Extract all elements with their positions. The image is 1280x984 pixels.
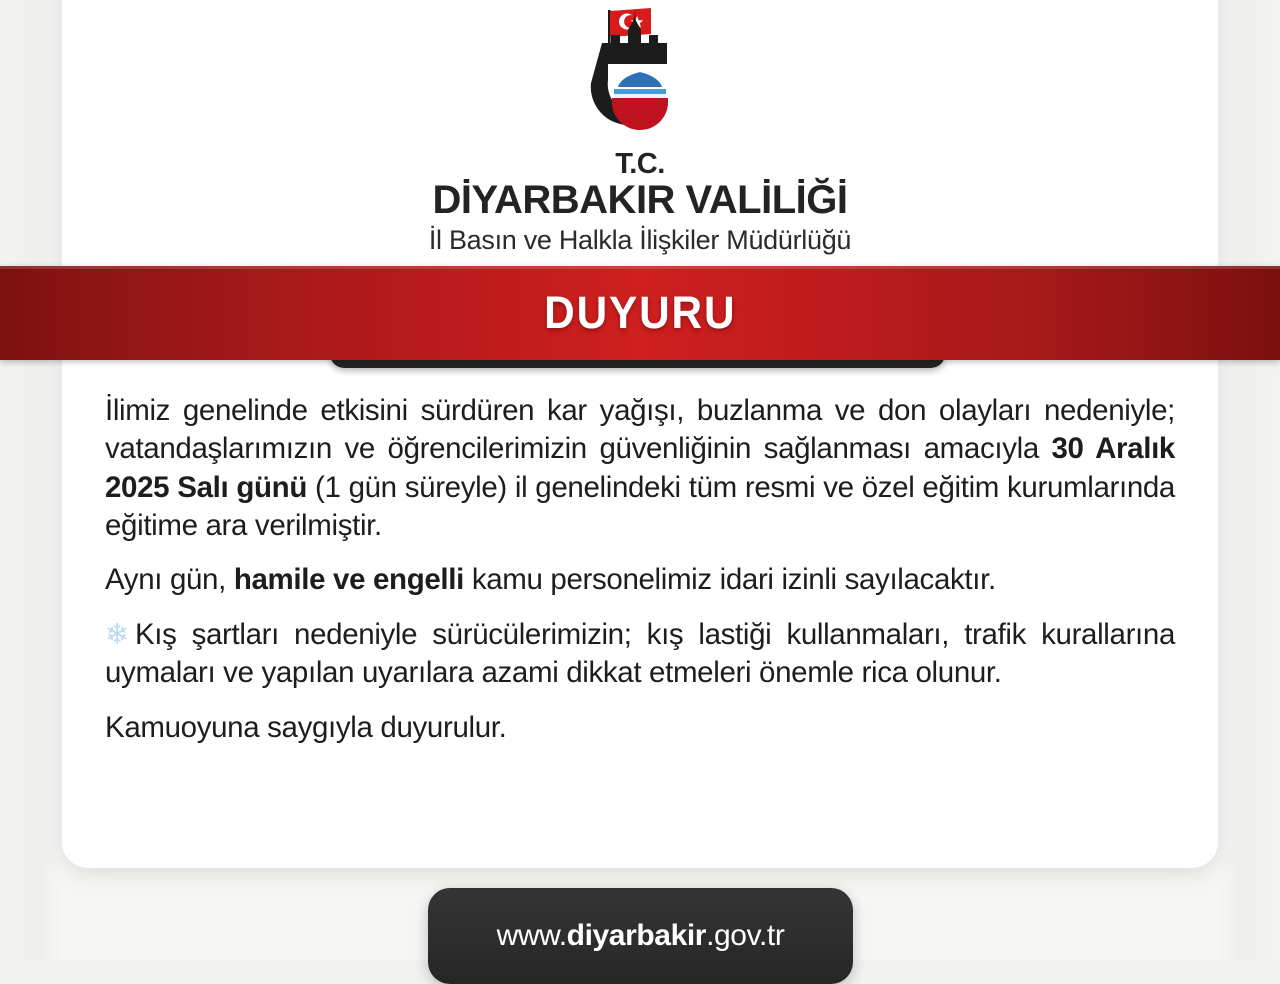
url-suffix: .gov.tr	[706, 919, 784, 952]
announcement-body: İlimiz genelinde etkisini sürdüren kar y…	[105, 392, 1175, 763]
p2-text-b: kamu personelimiz idari izinli sayılacak…	[464, 563, 996, 596]
website-url[interactable]: www.diyarbakir.gov.tr	[497, 919, 785, 953]
duyuru-banner: DUYURU	[0, 266, 1280, 360]
organization-title: DİYARBAKIR VALİLİĞİ	[433, 180, 848, 222]
paragraph-closing: Kamuoyuna saygıyla duyurulur.	[105, 709, 1175, 747]
poster-header: T.C. DİYARBAKIR VALİLİĞİ İl Basın ve Hal…	[62, 0, 1218, 266]
p1-text-a: İlimiz genelinde etkisini sürdüren kar y…	[105, 394, 1175, 465]
paragraph-school-closure: İlimiz genelinde etkisini sürdüren kar y…	[105, 392, 1175, 545]
p3-text: Kış şartları nedeniyle sürücülerimizin; …	[105, 618, 1175, 690]
url-domain: diyarbakir	[567, 919, 706, 952]
snowflake-icon: ❄	[105, 619, 129, 651]
p2-group-emphasis: hamile ve engelli	[234, 563, 464, 596]
department-subtitle: İl Basın ve Halkla İlişkiler Müdürlüğü	[429, 226, 851, 256]
p2-text-a: Aynı gün,	[105, 563, 234, 596]
website-footer-pill[interactable]: www.diyarbakir.gov.tr	[428, 888, 853, 984]
paragraph-administrative-leave: Aynı gün, hamile ve engelli kamu persone…	[105, 561, 1175, 599]
tc-label: T.C.	[615, 150, 665, 179]
url-prefix: www.	[497, 919, 567, 952]
banner-title: DUYURU	[544, 287, 736, 339]
diyarbakir-governorship-emblem	[581, 4, 699, 144]
paragraph-driver-warning: ❄Kış şartları nedeniyle sürücülerimizin;…	[105, 616, 1175, 693]
